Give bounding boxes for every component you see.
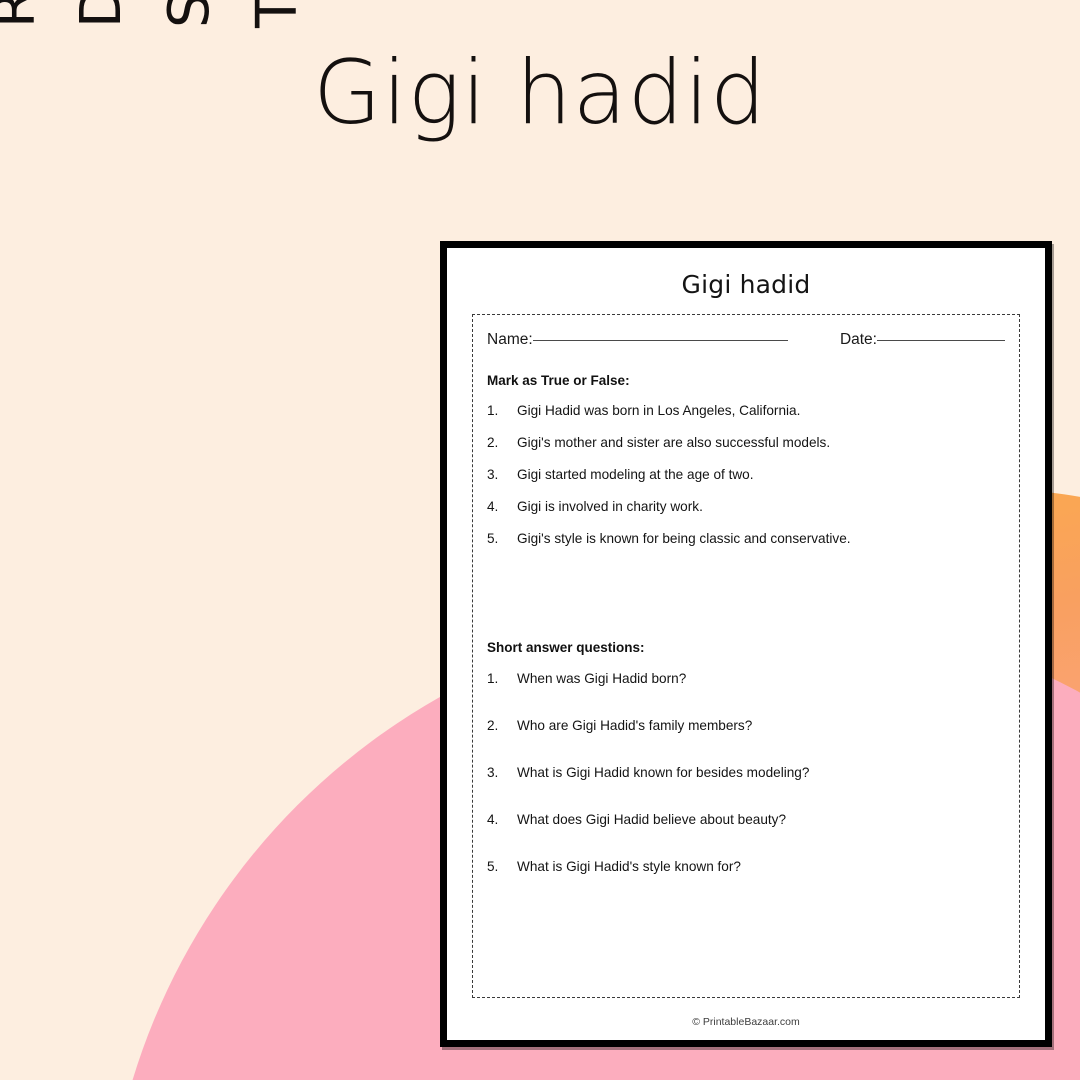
item-number: 1.: [487, 401, 517, 420]
item-text: Gigi started modeling at the age of two.: [517, 465, 1005, 484]
date-input[interactable]: [877, 340, 1005, 341]
item-text: Gigi is involved in charity work.: [517, 497, 1005, 516]
item-number: 2.: [487, 716, 517, 735]
list-item: 1. When was Gigi Hadid born?: [487, 669, 1005, 688]
item-text: What is Gigi Hadid's style known for?: [517, 857, 1005, 876]
vertical-label-true-false: True \ False: [245, 0, 310, 28]
item-text: What does Gigi Hadid believe about beaut…: [517, 810, 1005, 829]
item-text: Gigi's style is known for being classic …: [517, 529, 1005, 548]
true-false-heading: Mark as True or False:: [487, 373, 1005, 388]
worksheet-dashed-content-box: Name: Date: Mark as True or False: 1. Gi…: [472, 314, 1020, 998]
item-number: 3.: [487, 465, 517, 484]
name-date-row: Name: Date:: [487, 331, 1005, 349]
vertical-label-short-answer-questions: Short answer questions: [157, 0, 222, 28]
list-item: 4. What does Gigi Hadid believe about be…: [487, 810, 1005, 829]
item-number: 3.: [487, 763, 517, 782]
true-false-section: Mark as True or False: 1. Gigi Hadid was…: [487, 373, 1005, 548]
list-item: 4. Gigi is involved in charity work.: [487, 497, 1005, 516]
worksheet-title: Gigi hadid: [447, 270, 1045, 299]
list-item: 1. Gigi Hadid was born in Los Angeles, C…: [487, 401, 1005, 420]
short-answer-list: 1. When was Gigi Hadid born? 2. Who are …: [487, 669, 1005, 876]
worksheet-poster-canvas: Gigi hadid Reading Passage Descriptive Q…: [0, 0, 1080, 1080]
item-number: 4.: [487, 497, 517, 516]
item-number: 5.: [487, 857, 517, 876]
list-item: 3. What is Gigi Hadid known for besides …: [487, 763, 1005, 782]
list-item: 3. Gigi started modeling at the age of t…: [487, 465, 1005, 484]
item-text: What is Gigi Hadid known for besides mod…: [517, 763, 1005, 782]
worksheet-sheet-inner: Gigi hadid Name: Date: Mark as True or F…: [447, 248, 1045, 1040]
item-text: Who are Gigi Hadid's family members?: [517, 716, 1005, 735]
list-item: 5. What is Gigi Hadid's style known for?: [487, 857, 1005, 876]
footer-credit: © PrintableBazaar.com: [447, 1016, 1045, 1028]
true-false-list: 1. Gigi Hadid was born in Los Angeles, C…: [487, 401, 1005, 548]
item-number: 4.: [487, 810, 517, 829]
worksheet-sheet: Gigi hadid Name: Date: Mark as True or F…: [440, 241, 1052, 1047]
short-answer-heading: Short answer questions:: [487, 640, 1005, 655]
item-text: Gigi Hadid was born in Los Angeles, Cali…: [517, 401, 1005, 420]
item-text: Gigi's mother and sister are also succes…: [517, 433, 1005, 452]
list-item: 5. Gigi's style is known for being class…: [487, 529, 1005, 548]
short-answer-section: Short answer questions: 1. When was Gigi…: [487, 640, 1005, 876]
vertical-label-group: Reading Passage Descriptive Questions Sh…: [0, 0, 400, 1080]
item-text: When was Gigi Hadid born?: [517, 669, 1005, 688]
vertical-label-reading-passage: Reading Passage: [0, 0, 48, 28]
name-label: Name:: [487, 331, 533, 349]
vertical-label-descriptive-questions: Descriptive Questions: [69, 0, 134, 28]
list-item: 2. Gigi's mother and sister are also suc…: [487, 433, 1005, 452]
name-input[interactable]: [533, 340, 788, 341]
date-label: Date:: [840, 331, 877, 349]
item-number: 1.: [487, 669, 517, 688]
list-item: 2. Who are Gigi Hadid's family members?: [487, 716, 1005, 735]
item-number: 2.: [487, 433, 517, 452]
item-number: 5.: [487, 529, 517, 548]
